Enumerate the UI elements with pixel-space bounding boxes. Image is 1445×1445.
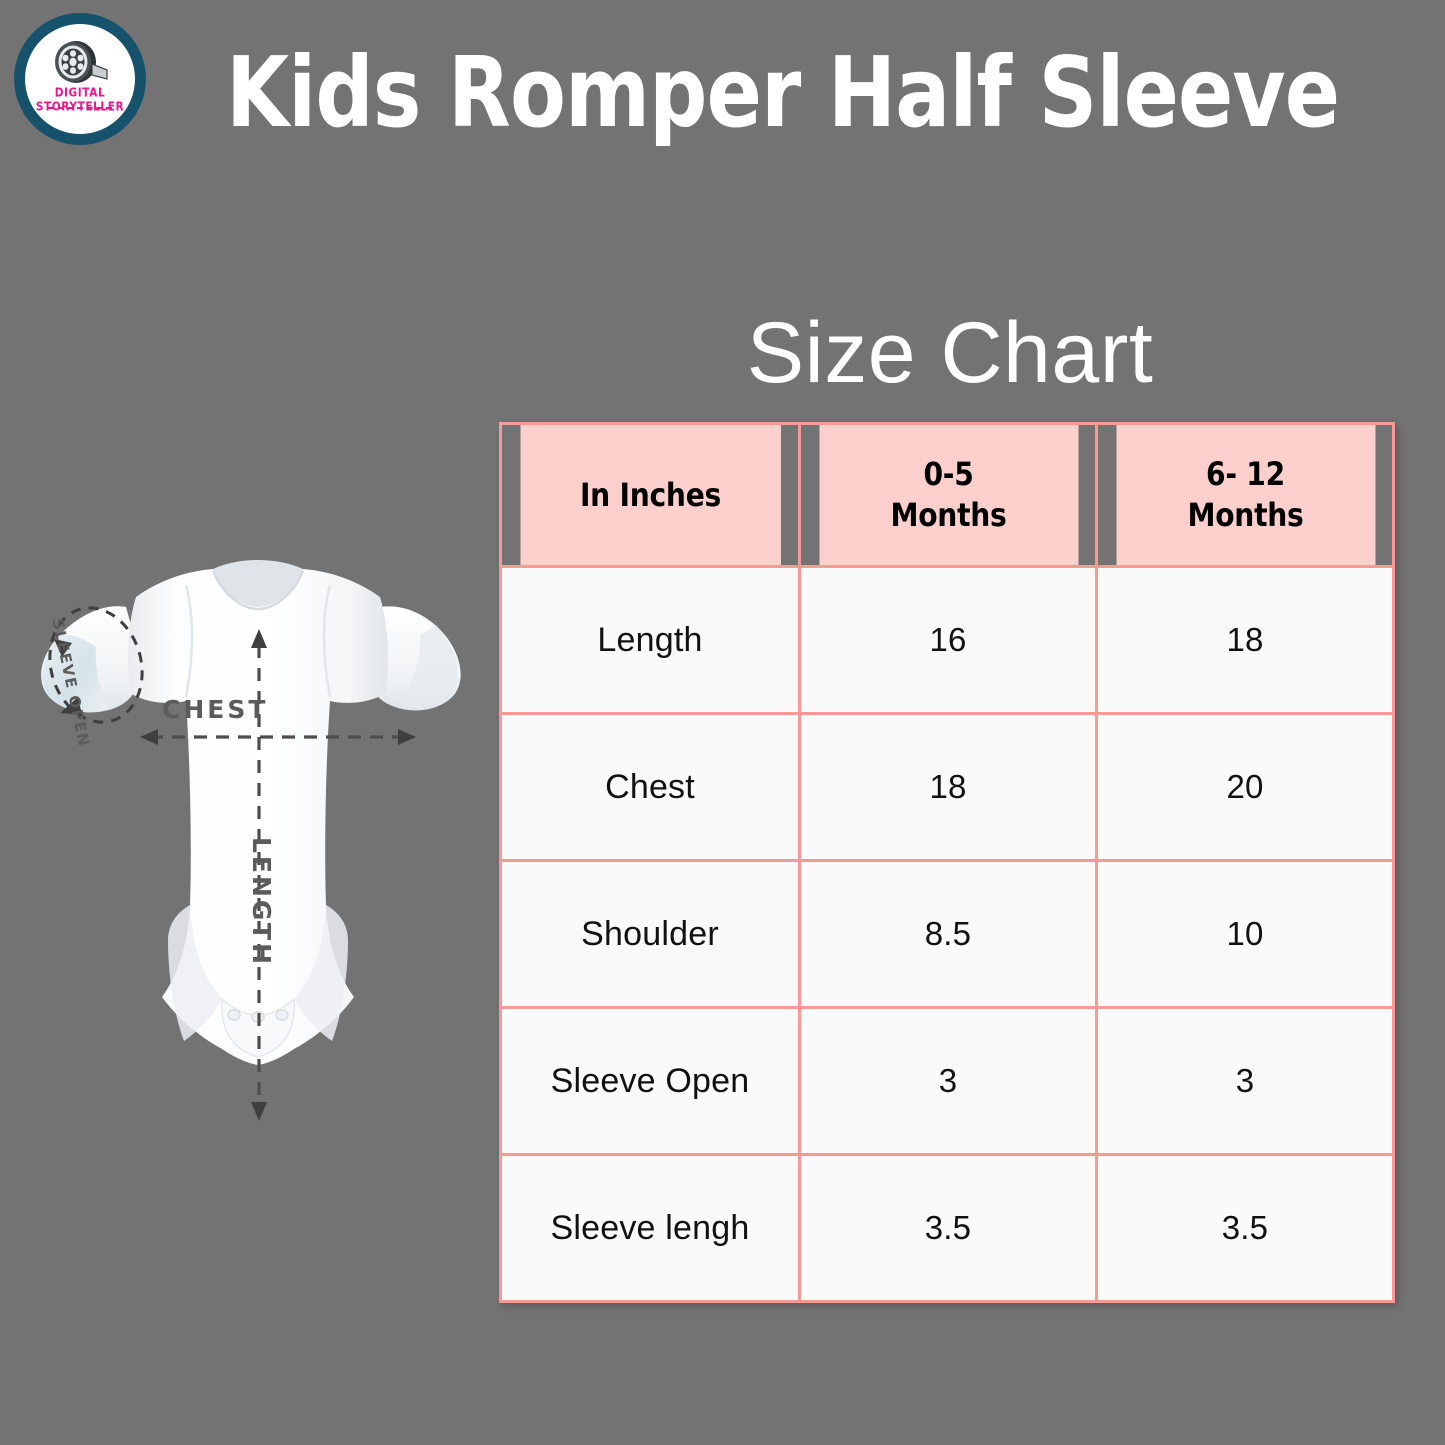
header-line: In Inches (520, 475, 780, 516)
row-label: Sleeve Open (501, 1008, 800, 1155)
row-value-6-12: 20 (1097, 714, 1394, 861)
row-value-0-5: 3.5 (800, 1155, 1097, 1302)
chest-label: CHEST (162, 695, 268, 724)
header-line: Months (1116, 495, 1375, 536)
header-line: 6- 12 (1116, 454, 1375, 495)
logo-underline-dashes (48, 107, 112, 109)
row-value-0-5: 3 (800, 1008, 1097, 1155)
header-line: Months (819, 495, 1078, 536)
page-title: Kids Romper Half Sleeve (226, 42, 1339, 144)
table-row: Chest 18 20 (501, 714, 1394, 861)
romper-illustration: CHEST LENGTH SLEEVE OPEN (8, 545, 508, 1145)
row-value-0-5: 18 (800, 714, 1097, 861)
section-title: Size Chart (700, 306, 1200, 401)
row-value-6-12: 3 (1097, 1008, 1394, 1155)
header-cell-unit: In Inches (518, 424, 781, 567)
table-header-row: In Inches 0-5 Months 6- 12 Months (501, 424, 1394, 567)
header-cell-6-12-months: 6- 12 Months (1114, 424, 1375, 567)
logo-wordmark: DIGITAL STORYTELLER (25, 86, 135, 114)
row-label: Shoulder (501, 861, 800, 1008)
row-label: Length (501, 567, 800, 714)
row-value-0-5: 8.5 (800, 861, 1097, 1008)
table-row: Shoulder 8.5 10 (501, 861, 1394, 1008)
row-label: Chest (501, 714, 800, 861)
header-line: 0-5 (819, 454, 1078, 495)
table-row: Length 16 18 (501, 567, 1394, 714)
row-value-6-12: 10 (1097, 861, 1394, 1008)
film-reel-icon (51, 40, 109, 86)
row-value-6-12: 3.5 (1097, 1155, 1394, 1302)
header-cell-0-5-months: 0-5 Months (817, 424, 1078, 567)
row-label: Sleeve lengh (501, 1155, 800, 1302)
table-row: Sleeve Open 3 3 (501, 1008, 1394, 1155)
size-chart-table: In Inches 0-5 Months 6- 12 Months Length… (499, 422, 1395, 1303)
row-value-6-12: 18 (1097, 567, 1394, 714)
row-value-0-5: 16 (800, 567, 1097, 714)
brand-logo: DIGITAL STORYTELLER (14, 13, 146, 145)
table-row: Sleeve lengh 3.5 3.5 (501, 1155, 1394, 1302)
length-label: LENGTH (247, 837, 276, 967)
